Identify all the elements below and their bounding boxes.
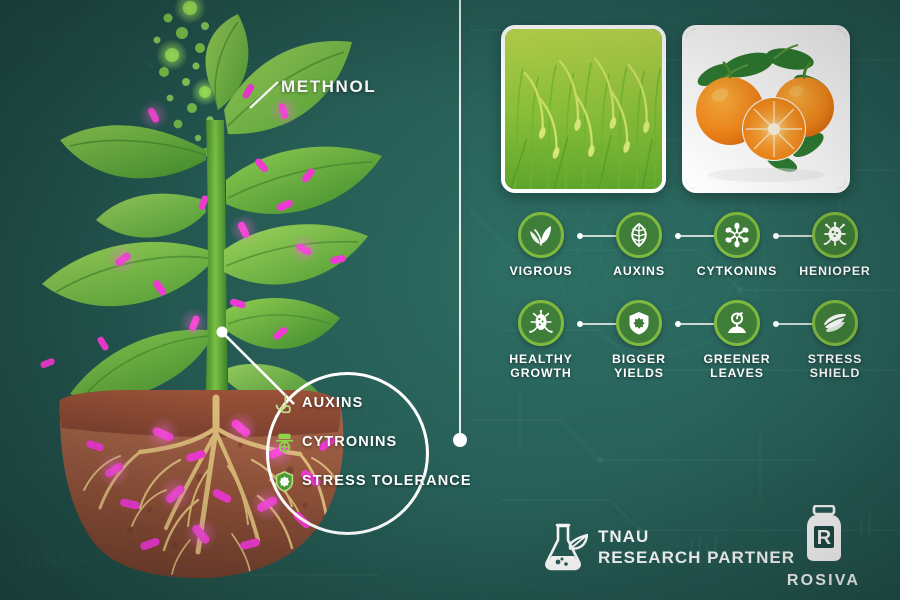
flask-leaf-icon (540, 522, 588, 572)
benefit-label-line2: YIELDS (614, 366, 664, 380)
sprout-leaf-icon (528, 222, 554, 248)
benefit-label-line1: BIGGER (612, 352, 666, 366)
benefit-label: AUXINS (590, 264, 688, 278)
rice-field-photo (501, 25, 666, 193)
benefit-cytkonins[interactable]: CYTKONINS (688, 212, 786, 278)
benefit-label-line2: SHIELD (810, 366, 861, 380)
brand-mark-letter: R (816, 527, 831, 549)
callout-item-list: AUXINS CYTRONINS STRESS TOLERANCE (274, 388, 449, 505)
leaf-vein-icon (626, 222, 652, 248)
benefit-icon-circle (518, 300, 564, 346)
tnau-text: TNAU RESEARCH PARTNER (598, 526, 795, 568)
benefit-icon-circle (714, 212, 760, 258)
shield-leaf-icon (274, 470, 295, 493)
benefit-label-line2: LEAVES (710, 366, 764, 380)
tnau-line1: TNAU (598, 526, 795, 547)
bottle-icon: R (797, 505, 851, 563)
benefit-vigrous[interactable]: VIGROUS (492, 212, 590, 278)
benefit-icon-circle (518, 212, 564, 258)
benefit-label: GREENER LEAVES (688, 352, 786, 380)
callout-label: AUXINS (302, 395, 363, 411)
benefit-henioper[interactable]: HENIOPER (786, 212, 884, 278)
callout-label: STRESS TOLERANCE (302, 473, 472, 489)
flower-star-icon (724, 222, 750, 248)
benefit-icon-circle (616, 300, 662, 346)
benefits-row-2: HEALTHY GROWTH BIGGER YIELDS (492, 300, 892, 388)
benefit-label-line2: GROWTH (510, 366, 571, 380)
benefit-healthy-growth[interactable]: HEALTHY GROWTH (492, 300, 590, 380)
benefit-icon-circle (812, 300, 858, 346)
benefit-label-line1: HEALTHY (509, 352, 572, 366)
sprout-hook-icon (274, 392, 295, 415)
leaf-stack-icon (822, 310, 848, 336)
benefit-icon-circle (812, 212, 858, 258)
benefits-row-1: VIGROUS AUXINS (492, 212, 892, 300)
callout-item-auxins: AUXINS (274, 388, 449, 418)
callout-item-stress-tolerance: STRESS TOLERANCE (274, 466, 449, 496)
microbe-icon (822, 222, 848, 248)
infographic-canvas: METHNOL AUXINS CYTRONINS (0, 0, 900, 600)
brand-name: ROSIVA (776, 572, 871, 590)
methanol-label: METHNOL (281, 77, 376, 97)
rosiva-brand-block: R ROSIVA (776, 505, 871, 590)
benefit-label-line1: GREENER (703, 352, 770, 366)
benefit-label: HEALTHY GROWTH (492, 352, 590, 380)
callout-item-cytronins: CYTRONINS (274, 427, 449, 457)
benefit-auxins[interactable]: AUXINS (590, 212, 688, 278)
divider-end-dot (453, 433, 467, 447)
benefit-icon-circle (616, 212, 662, 258)
tnau-line2: RESEARCH PARTNER (598, 547, 795, 568)
plant-person-icon (724, 310, 750, 336)
vertical-divider (459, 0, 461, 440)
benefit-icon-circle (714, 300, 760, 346)
benefit-bigger-yields[interactable]: BIGGER YIELDS (590, 300, 688, 380)
benefit-greener-leaves[interactable]: GREENER LEAVES (688, 300, 786, 380)
benefits-grid: VIGROUS AUXINS (492, 212, 892, 388)
microscope-icon (274, 431, 295, 454)
benefit-label: VIGROUS (492, 264, 590, 278)
shield-check-icon (626, 310, 652, 336)
benefit-stress-shield[interactable]: STRESS SHIELD (786, 300, 884, 380)
bacteria-cell-icon (528, 310, 554, 336)
benefit-label: HENIOPER (786, 264, 884, 278)
oranges-photo (682, 25, 850, 193)
callout-label: CYTRONINS (302, 434, 397, 450)
benefit-label: STRESS SHIELD (786, 352, 884, 380)
benefit-label: BIGGER YIELDS (590, 352, 688, 380)
benefit-label-line1: STRESS (808, 352, 863, 366)
tnau-partner-block: TNAU RESEARCH PARTNER (540, 522, 795, 572)
benefit-label: CYTKONINS (688, 264, 786, 278)
